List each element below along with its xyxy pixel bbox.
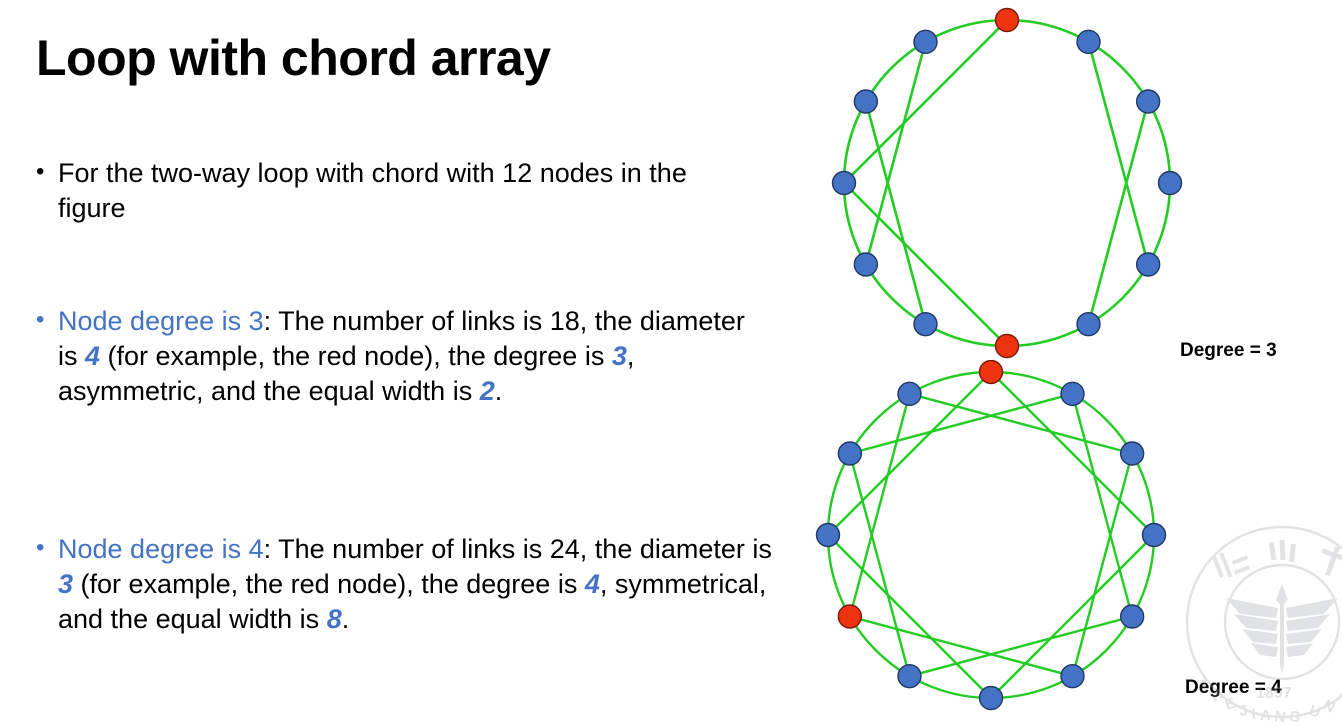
bullet-degree4-seg2: (for example, the red node), the degree … [73, 569, 585, 599]
degree4-caption: Degree = 4 [1185, 677, 1282, 699]
bullet-degree3-diameter-value: 4 [85, 341, 100, 371]
slide-text-column: Loop with chord array • For the two-way … [0, 0, 800, 726]
bullet-degree4-text: Node degree is 4: The number of links is… [58, 532, 781, 637]
svg-text:J: J [1238, 702, 1249, 720]
bullet-degree4: • Node degree is 4: The number of links … [36, 532, 781, 637]
bullet-degree3: • Node degree is 3: The number of links … [36, 304, 766, 409]
graph-node-red [996, 335, 1019, 358]
bullet-degree3-width-value: 2 [480, 376, 495, 406]
graph-node-blue [898, 665, 921, 688]
bullet-intro: • For the two-way loop with chord with 1… [36, 156, 716, 226]
graph-node-blue [1121, 442, 1144, 465]
svg-text:A: A [1260, 707, 1272, 722]
bullet-degree4-lead: Node degree is 4 [58, 534, 264, 564]
graph-node-blue [1077, 30, 1100, 53]
graph-degree3 [824, 4, 1190, 370]
bullet-degree4-seg1: The number of links is 24, the diameter … [278, 534, 772, 564]
chord-edge [1089, 42, 1149, 265]
graph-node-blue [914, 30, 937, 53]
bullet-degree3-text: Node degree is 3: The number of links is… [58, 304, 766, 409]
graph-node-blue [854, 90, 877, 113]
graph-node-blue [898, 382, 921, 405]
degree3-caption: Degree = 3 [1180, 340, 1277, 362]
graph-node-blue [1137, 90, 1160, 113]
bullet-degree4-seg4: . [342, 604, 350, 634]
svg-text:N: N [1320, 697, 1338, 717]
graph-node-blue [1121, 605, 1144, 628]
ring-edge [828, 372, 1154, 698]
svg-text:U: U [1307, 702, 1323, 722]
graph-node-blue [1159, 172, 1182, 195]
page-title: Loop with chord array [36, 32, 551, 85]
graph-node-blue [854, 253, 877, 276]
graph-node-blue [838, 442, 861, 465]
bullet-intro-text: For the two-way loop with chord with 12 … [58, 156, 716, 226]
graph-node-blue [817, 524, 840, 547]
bullet-marker-icon: • [36, 304, 58, 335]
ring-edge [844, 20, 1170, 346]
svg-text:I: I [1251, 706, 1256, 722]
svg-text:G: G [1287, 707, 1302, 722]
bullet-degree4-diameter-value: 3 [58, 569, 73, 599]
graph-node-blue [914, 313, 937, 336]
chord-edge [1089, 102, 1149, 325]
graph-node-blue [1137, 253, 1160, 276]
bullet-degree3-seg4: . [495, 376, 503, 406]
bullet-degree3-colon: : [264, 306, 279, 336]
svg-text:N: N [1273, 708, 1286, 722]
graph-node-red [980, 361, 1003, 384]
graph-node-blue [1061, 665, 1084, 688]
bullet-degree4-width-value: 8 [327, 604, 342, 634]
graph-node-blue [1143, 524, 1166, 547]
graph-node-red [838, 605, 861, 628]
bullet-degree3-lead: Node degree is 3 [58, 306, 264, 336]
figures-column: Degree = 3 Degree = 4 [800, 0, 1342, 726]
graph-degree4 [808, 360, 1174, 722]
bullet-marker-icon: • [36, 156, 58, 187]
graph-node-red [996, 9, 1019, 32]
bullet-degree3-seg2: (for example, the red node), the degree … [100, 341, 612, 371]
graph-node-blue [980, 687, 1003, 710]
bullet-degree4-degree-value: 4 [585, 569, 600, 599]
graph-node-blue [1077, 313, 1100, 336]
svg-text:I: I [1334, 688, 1342, 704]
bullet-degree3-degree-value: 3 [612, 341, 627, 371]
graph-node-blue [1061, 382, 1084, 405]
graph-node-blue [833, 172, 856, 195]
bullet-degree4-colon: : [264, 534, 279, 564]
bullet-marker-icon: • [36, 532, 58, 563]
